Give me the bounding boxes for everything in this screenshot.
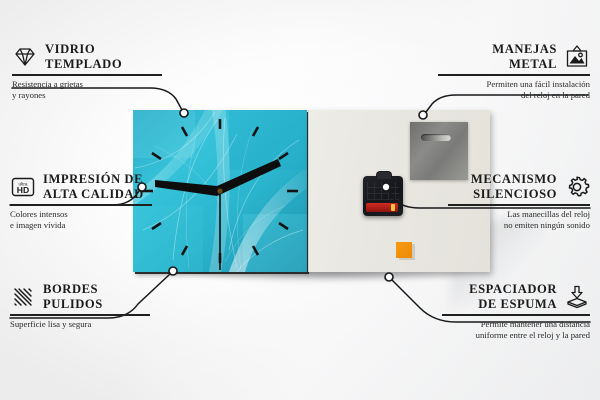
svg-text:HD: HD: [17, 185, 29, 195]
hanging-frame-icon: [564, 44, 590, 70]
feature-rule: [442, 314, 590, 315]
wire-dot-vidrio-templado: [180, 109, 188, 117]
gear-icon: [564, 174, 590, 200]
infographic-canvas: VIDRIO TEMPLADO Resistencia a grietas y …: [0, 0, 600, 400]
feature-header: MANEJAS METAL: [438, 42, 590, 71]
feature-title: VIDRIO TEMPLADO: [45, 42, 122, 71]
feature-rule: [12, 74, 162, 75]
feature-rule: [438, 74, 590, 75]
wire-dot-espaciador: [385, 273, 393, 281]
feature-title: IMPRESIÓN DE ALTA CALIDAD: [43, 172, 144, 201]
feature-title: MECANISMO SILENCIOSO: [448, 172, 557, 201]
ultra-hd-icon: ultra HD: [10, 174, 36, 200]
feature-description: Permiten una fácil instalación del reloj…: [438, 79, 590, 101]
feature-rule: [448, 204, 590, 205]
feature-espaciador-de-espuma: ESPACIADOR DE ESPUMA Permite mantener un…: [442, 282, 590, 341]
foam-spacer-icon: [564, 284, 590, 310]
feature-description: Las manecillas del reloj no emiten ningú…: [448, 209, 590, 231]
feature-header: ultra HD IMPRESIÓN DE ALTA CALIDAD: [10, 172, 152, 201]
polished-edge-icon: [10, 284, 36, 310]
feature-title: BORDES PULIDOS: [43, 282, 103, 311]
wire-dot-mecanismo: [382, 183, 390, 191]
feature-description: Superficie lisa y segura: [10, 319, 150, 330]
feature-header: ESPACIADOR DE ESPUMA: [442, 282, 590, 311]
wire-dot-bordes: [169, 267, 177, 275]
wire-dot-manejas: [419, 111, 427, 119]
feature-header: MECANISMO SILENCIOSO: [448, 172, 590, 201]
feature-title: ESPACIADOR DE ESPUMA: [442, 282, 557, 311]
feature-description: Resistencia a grietas y rayones: [12, 79, 162, 101]
feature-header: VIDRIO TEMPLADO: [12, 42, 162, 71]
feature-title: MANEJAS METAL: [438, 42, 557, 71]
feature-mecanismo-silencioso: MECANISMO SILENCIOSO Las manecillas del …: [448, 172, 590, 231]
feature-header: BORDES PULIDOS: [10, 282, 150, 311]
feature-impresion-alta-calidad: ultra HD IMPRESIÓN DE ALTA CALIDAD Color…: [10, 172, 152, 231]
diamond-icon: [12, 44, 38, 70]
feature-manejas-metal: MANEJAS METAL Permiten una fácil instala…: [438, 42, 590, 101]
feature-bordes-pulidos: BORDES PULIDOS Superficie lisa y segura: [10, 282, 150, 330]
feature-description: Colores intensos e imagen vívida: [10, 209, 152, 231]
feature-rule: [10, 314, 150, 315]
feature-description: Permite mantener una distancia uniforme …: [442, 319, 590, 341]
feature-rule: [10, 204, 152, 205]
feature-vidrio-templado: VIDRIO TEMPLADO Resistencia a grietas y …: [12, 42, 162, 101]
